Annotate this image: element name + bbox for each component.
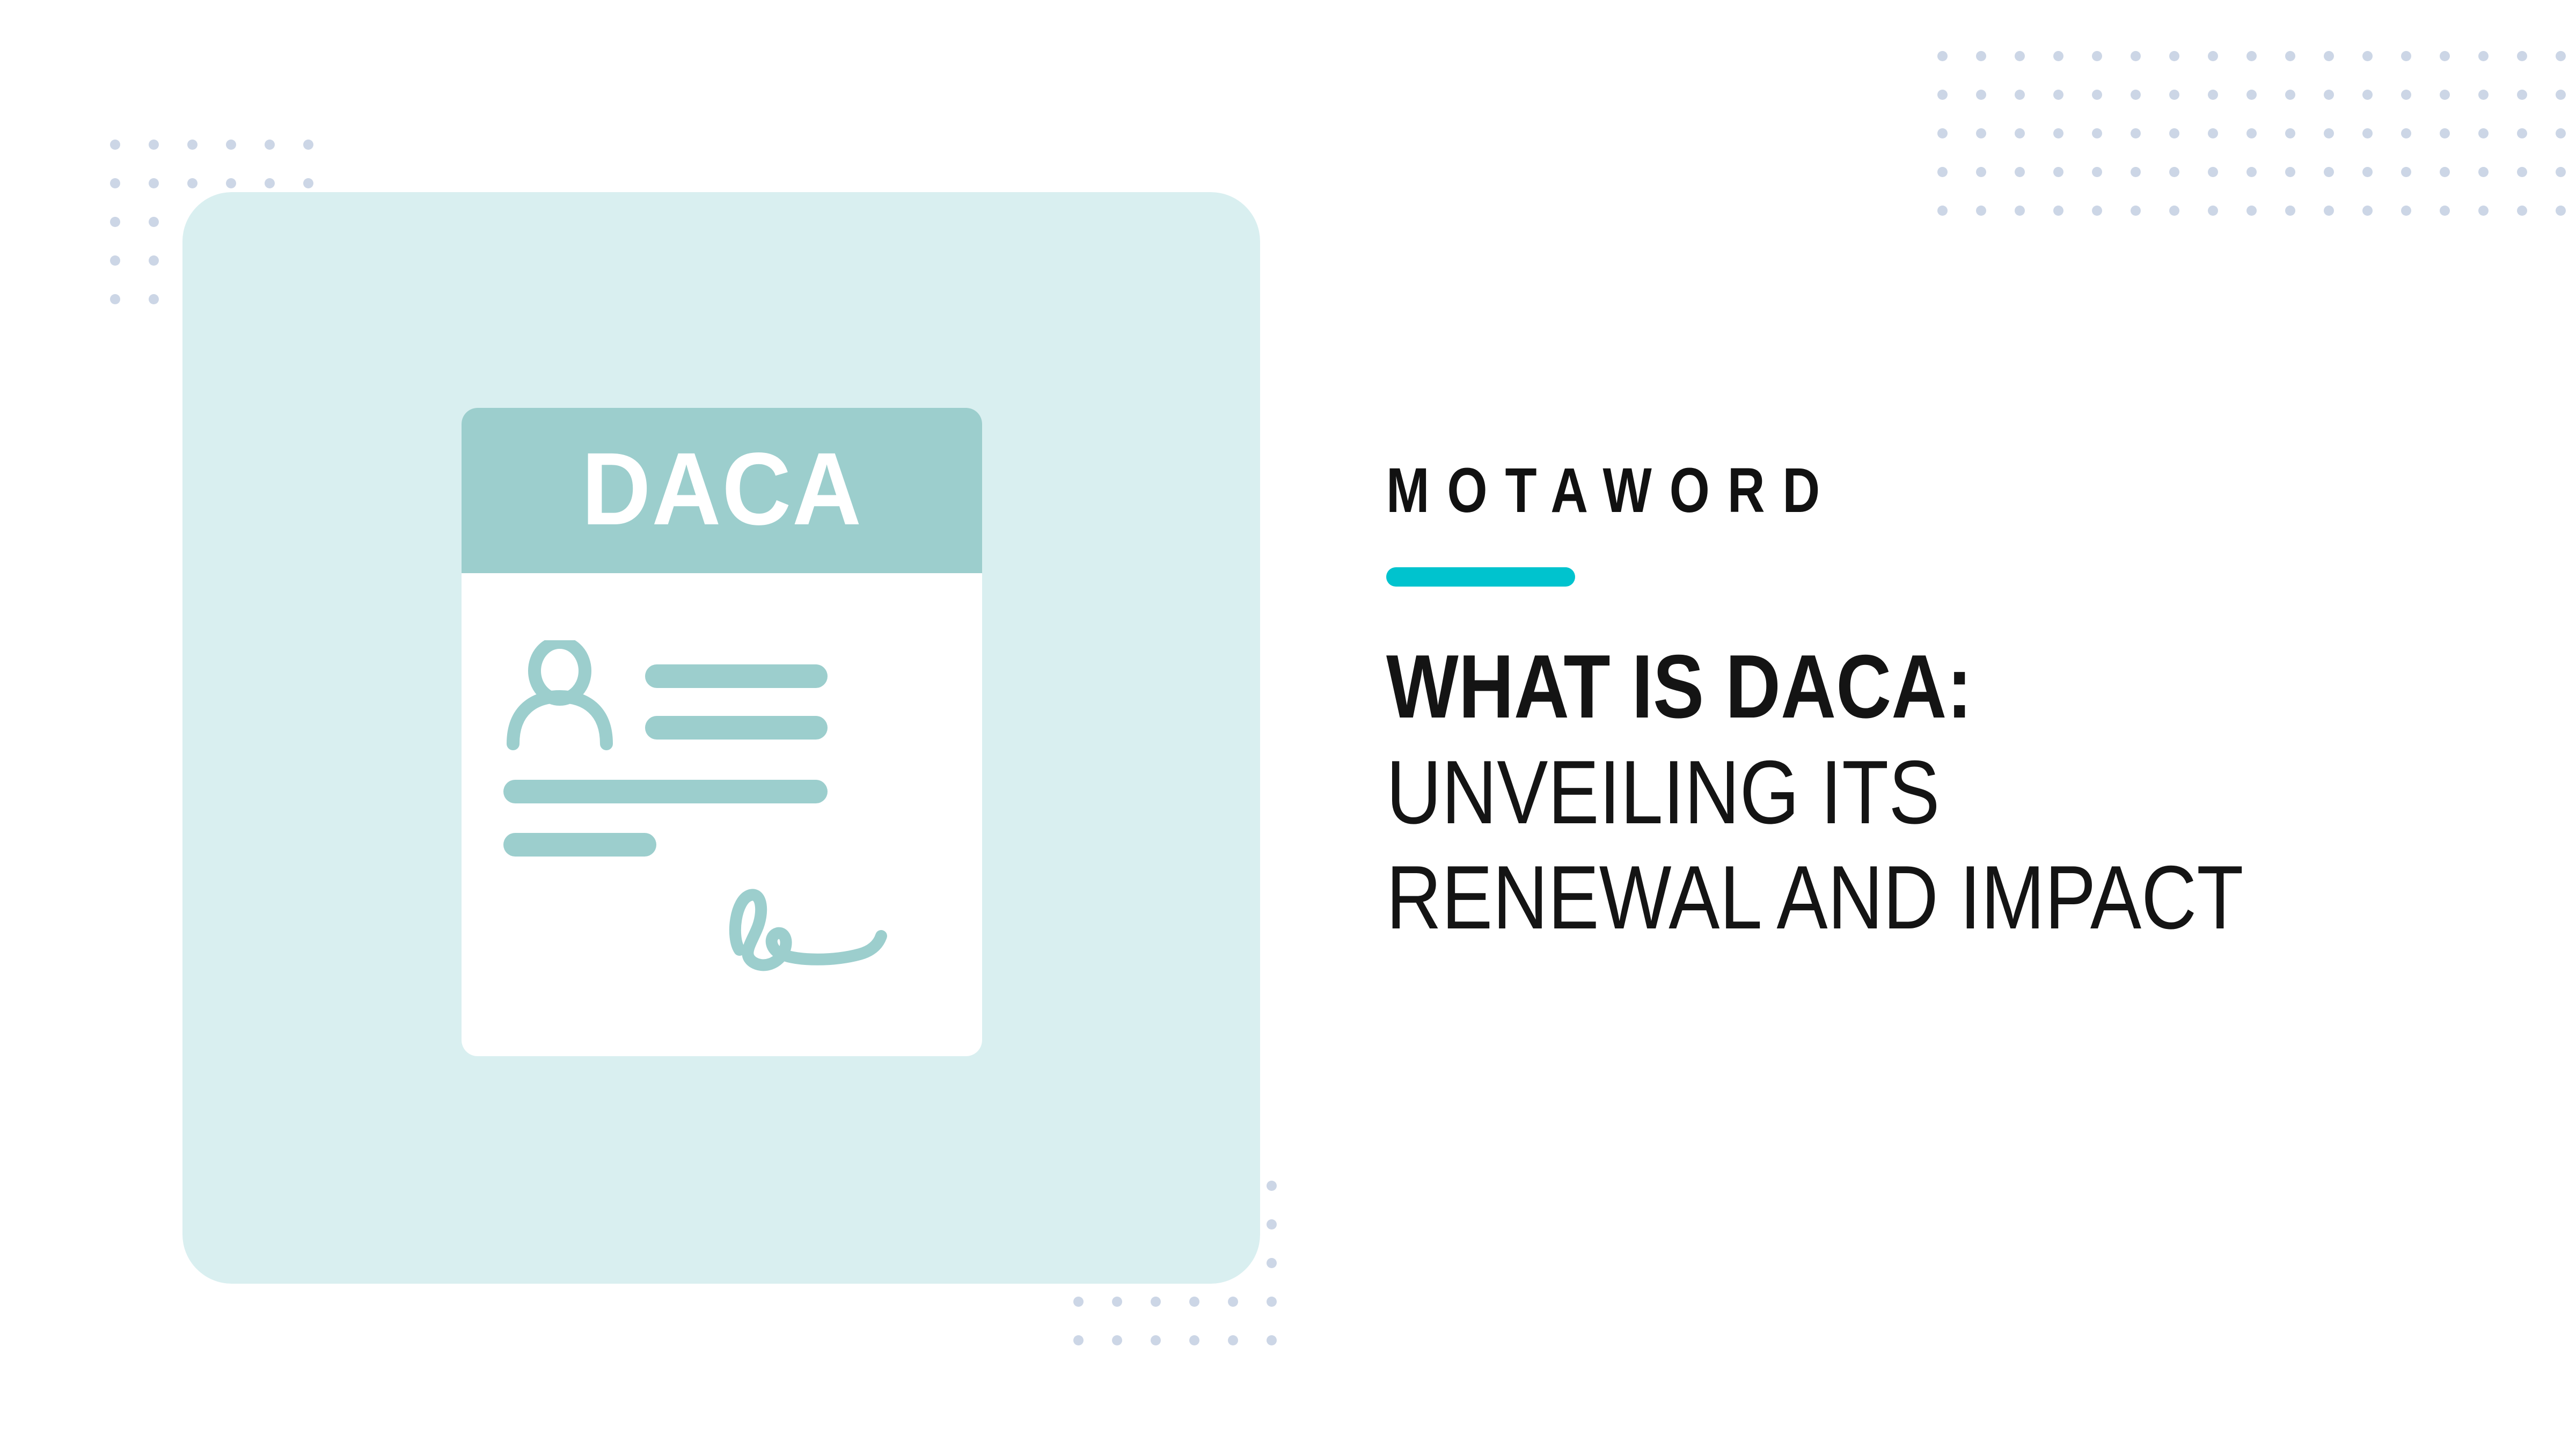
dot bbox=[1267, 1297, 1277, 1307]
dot bbox=[1073, 1297, 1084, 1307]
dot bbox=[226, 178, 236, 188]
text-column: MOTAWORD WHAT IS DACA: UNVEILING ITS REN… bbox=[1386, 459, 2406, 950]
page-title-line-3: RENEWAL AND IMPACT bbox=[1386, 845, 2253, 950]
dot bbox=[2362, 206, 2373, 216]
dot bbox=[187, 178, 197, 188]
dot bbox=[2517, 167, 2527, 177]
dot bbox=[149, 294, 159, 304]
dot bbox=[1228, 1335, 1238, 1345]
dot bbox=[2517, 206, 2527, 216]
person-icon bbox=[503, 640, 616, 750]
dot bbox=[2015, 128, 2025, 138]
dot bbox=[1267, 1335, 1277, 1345]
dot bbox=[2285, 90, 2295, 100]
dot bbox=[1189, 1297, 1199, 1307]
dot bbox=[2285, 51, 2295, 61]
dot bbox=[2208, 167, 2218, 177]
dot bbox=[2517, 128, 2527, 138]
dot bbox=[303, 178, 313, 188]
dot bbox=[2246, 51, 2257, 61]
dot bbox=[2401, 90, 2411, 100]
dot bbox=[2053, 51, 2063, 61]
dot bbox=[1937, 90, 1948, 100]
dot bbox=[2092, 128, 2102, 138]
dot bbox=[110, 140, 120, 150]
dot bbox=[2246, 167, 2257, 177]
dot bbox=[1976, 167, 1986, 177]
dot bbox=[2131, 51, 2141, 61]
dot bbox=[1189, 1335, 1199, 1345]
dot bbox=[149, 255, 159, 266]
dot bbox=[2478, 90, 2489, 100]
dot bbox=[1937, 167, 1948, 177]
page-title: WHAT IS DACA: UNVEILING ITS RENEWAL AND … bbox=[1386, 634, 2253, 950]
dot bbox=[265, 178, 275, 188]
dot bbox=[2556, 51, 2566, 61]
text-line-icon-1 bbox=[645, 664, 828, 688]
daca-card: DACA bbox=[462, 408, 982, 1056]
dot bbox=[2556, 167, 2566, 177]
dot bbox=[2324, 90, 2334, 100]
dot bbox=[2440, 128, 2450, 138]
dot bbox=[265, 140, 275, 150]
dot bbox=[187, 140, 197, 150]
dot bbox=[2324, 206, 2334, 216]
dot bbox=[1112, 1297, 1122, 1307]
dot bbox=[2362, 90, 2373, 100]
dot bbox=[2208, 206, 2218, 216]
dot bbox=[2246, 128, 2257, 138]
daca-card-header: DACA bbox=[462, 408, 982, 573]
dot bbox=[1073, 1335, 1084, 1345]
daca-card-title: DACA bbox=[581, 437, 862, 540]
dot bbox=[149, 217, 159, 227]
dot bbox=[303, 140, 313, 150]
dot bbox=[110, 255, 120, 266]
dot bbox=[2131, 90, 2141, 100]
dot bbox=[2285, 206, 2295, 216]
dot bbox=[2015, 206, 2025, 216]
dot bbox=[2208, 128, 2218, 138]
dot bbox=[226, 140, 236, 150]
dot bbox=[2208, 51, 2218, 61]
brand-wordmark: MOTAWORD bbox=[1386, 459, 2222, 522]
dot bbox=[2169, 90, 2179, 100]
dot bbox=[149, 178, 159, 188]
dot bbox=[2440, 206, 2450, 216]
dot bbox=[110, 178, 120, 188]
dot bbox=[110, 217, 120, 227]
dot bbox=[2401, 51, 2411, 61]
dot bbox=[1267, 1181, 1277, 1191]
dot bbox=[1267, 1258, 1277, 1268]
dot bbox=[2246, 206, 2257, 216]
dot bbox=[2053, 128, 2063, 138]
dot bbox=[2478, 128, 2489, 138]
dot bbox=[2015, 90, 2025, 100]
dot bbox=[2092, 167, 2102, 177]
text-line-icon-4 bbox=[503, 833, 656, 857]
dot bbox=[2440, 167, 2450, 177]
dot bbox=[2208, 90, 2218, 100]
dot bbox=[1976, 206, 1986, 216]
dot bbox=[1151, 1297, 1161, 1307]
dot bbox=[2324, 128, 2334, 138]
text-line-icon-3 bbox=[503, 780, 828, 803]
dot bbox=[2362, 51, 2373, 61]
dot bbox=[1937, 51, 1948, 61]
dot bbox=[2324, 51, 2334, 61]
dot bbox=[2556, 90, 2566, 100]
dot bbox=[2362, 128, 2373, 138]
dot bbox=[1112, 1335, 1122, 1345]
poster-canvas: DACA MOTAWORD WHAT IS DACA: UNVEILING IT… bbox=[0, 0, 2576, 1449]
dot bbox=[2169, 128, 2179, 138]
dot bbox=[2092, 206, 2102, 216]
page-title-line-2: UNVEILING ITS bbox=[1386, 740, 2253, 845]
dot bbox=[2169, 167, 2179, 177]
dot bbox=[2440, 51, 2450, 61]
dot bbox=[2053, 206, 2063, 216]
dot bbox=[2131, 128, 2141, 138]
dot bbox=[2517, 51, 2527, 61]
dot bbox=[2478, 206, 2489, 216]
dot bbox=[1937, 128, 1948, 138]
dot bbox=[1151, 1335, 1161, 1345]
dot bbox=[2478, 167, 2489, 177]
dot bbox=[2440, 90, 2450, 100]
text-line-icon-2 bbox=[645, 716, 828, 740]
dot bbox=[2053, 90, 2063, 100]
dot bbox=[2362, 167, 2373, 177]
dot bbox=[2053, 167, 2063, 177]
dot bbox=[149, 140, 159, 150]
dot bbox=[2169, 51, 2179, 61]
dot bbox=[1976, 51, 1986, 61]
signature-icon bbox=[719, 874, 896, 981]
dot bbox=[2401, 128, 2411, 138]
dot bbox=[1267, 1219, 1277, 1230]
daca-card-body bbox=[462, 573, 982, 1056]
dot bbox=[1976, 90, 1986, 100]
dot bbox=[2478, 51, 2489, 61]
page-title-line-1: WHAT IS DACA: bbox=[1386, 634, 2253, 740]
dot bbox=[2517, 90, 2527, 100]
dot bbox=[2285, 128, 2295, 138]
dot bbox=[110, 294, 120, 304]
dot bbox=[2556, 206, 2566, 216]
dot bbox=[2285, 167, 2295, 177]
dot bbox=[2131, 167, 2141, 177]
accent-bar bbox=[1386, 567, 1575, 587]
dot bbox=[2131, 206, 2141, 216]
dot bbox=[2015, 51, 2025, 61]
dot bbox=[1937, 206, 1948, 216]
dot bbox=[2169, 206, 2179, 216]
dot bbox=[2556, 128, 2566, 138]
dot bbox=[2092, 51, 2102, 61]
dot bbox=[1976, 128, 1986, 138]
dot bbox=[2092, 90, 2102, 100]
dot bbox=[1228, 1297, 1238, 1307]
dot bbox=[2401, 206, 2411, 216]
dot bbox=[2324, 167, 2334, 177]
dot bbox=[2401, 167, 2411, 177]
dot bbox=[2246, 90, 2257, 100]
dot bbox=[2015, 167, 2025, 177]
